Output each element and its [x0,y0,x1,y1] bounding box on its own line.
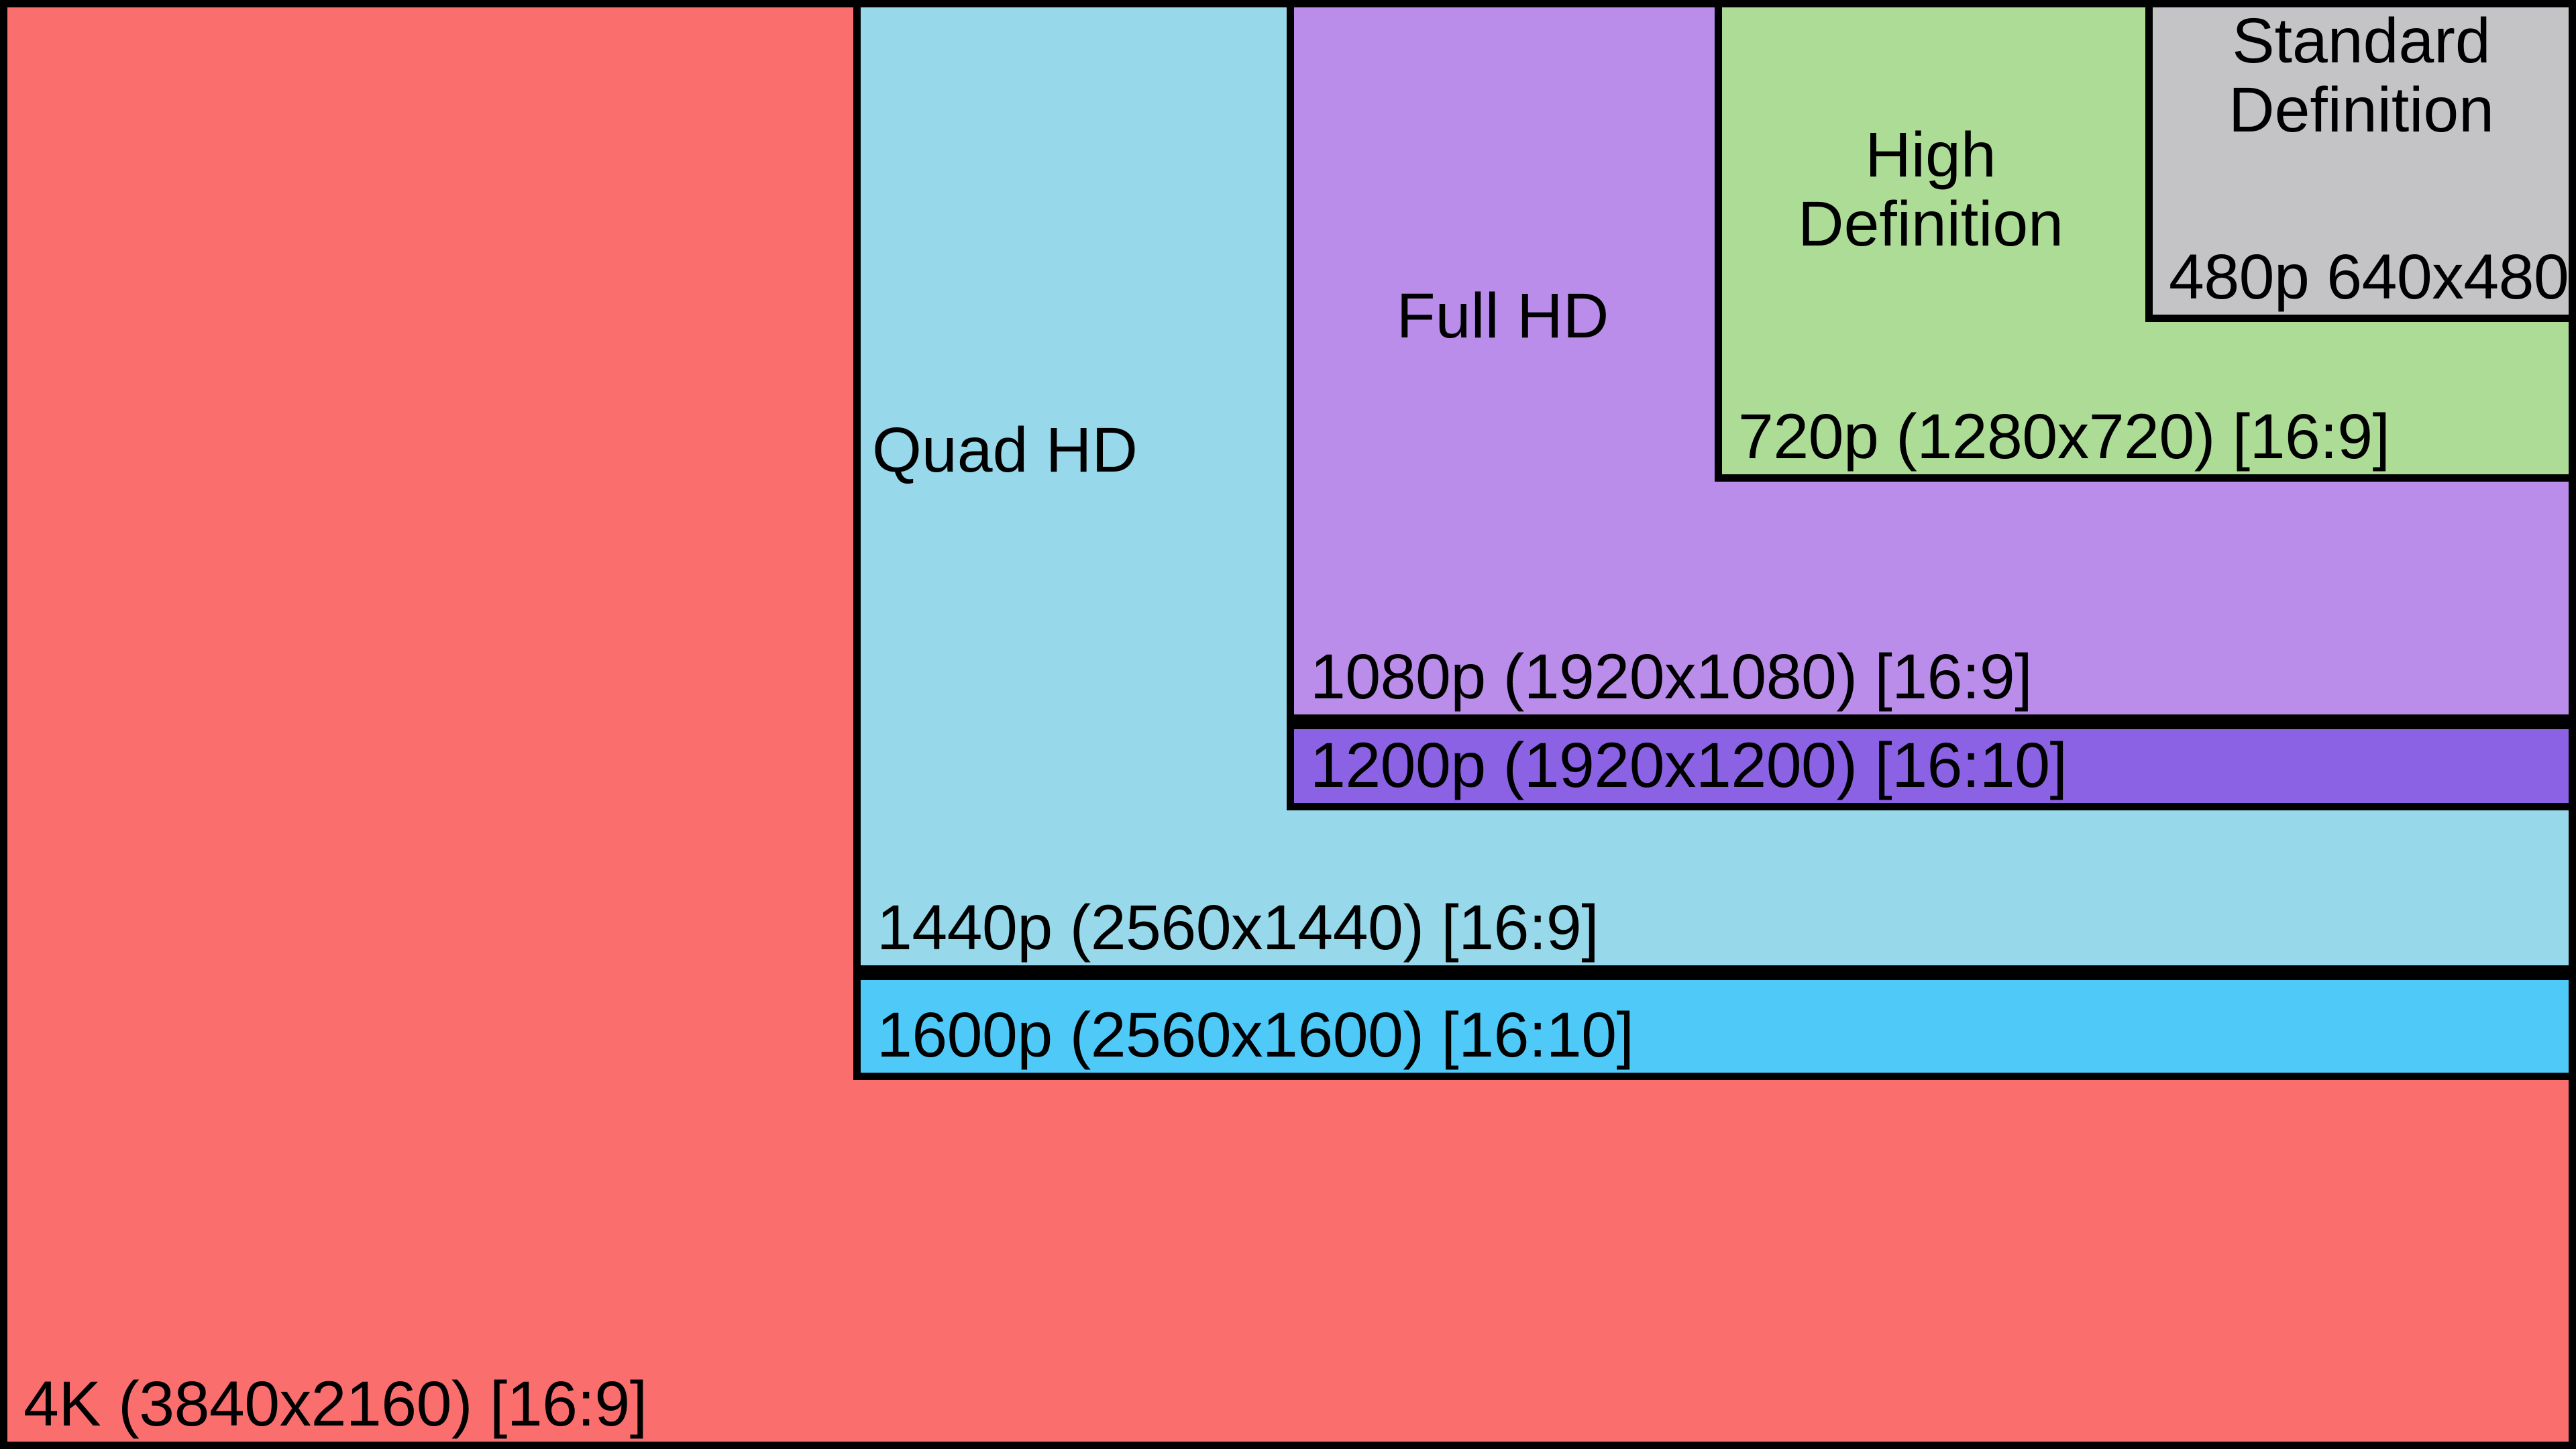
resolution-label-1440p: 1440p (2560x1440) [16:9] [877,896,1599,960]
category-label-standard-definition: Standard Definition [2153,7,2569,144]
category-label-high-definition: High Definition [1723,121,2139,258]
resolution-label-1600p: 1600p (2560x1600) [16:10] [877,1004,1633,1067]
resolution-label-720p: 720p (1280x720) [16:9] [1738,405,2390,469]
resolution-box-1200p: 1200p (1920x1200) [16:10] [1287,722,2576,810]
resolution-label-1080p: 1080p (1920x1080) [16:9] [1310,645,2032,709]
resolution-label-480p: 480p 640x480 [2169,246,2569,309]
resolution-comparison-diagram: 4K (3840x2160) [16:9] 1600p (2560x1600) … [0,0,2576,1449]
category-label-full-hd: Full HD [1295,282,1711,351]
resolution-label-4k: 4K (3840x2160) [16:9] [23,1373,647,1436]
resolution-box-1600p: 1600p (2560x1600) [16:10] [853,973,2576,1080]
category-label-quad-hd: Quad HD [872,416,1275,485]
resolution-label-1200p: 1200p (1920x1200) [16:10] [1310,734,2067,798]
